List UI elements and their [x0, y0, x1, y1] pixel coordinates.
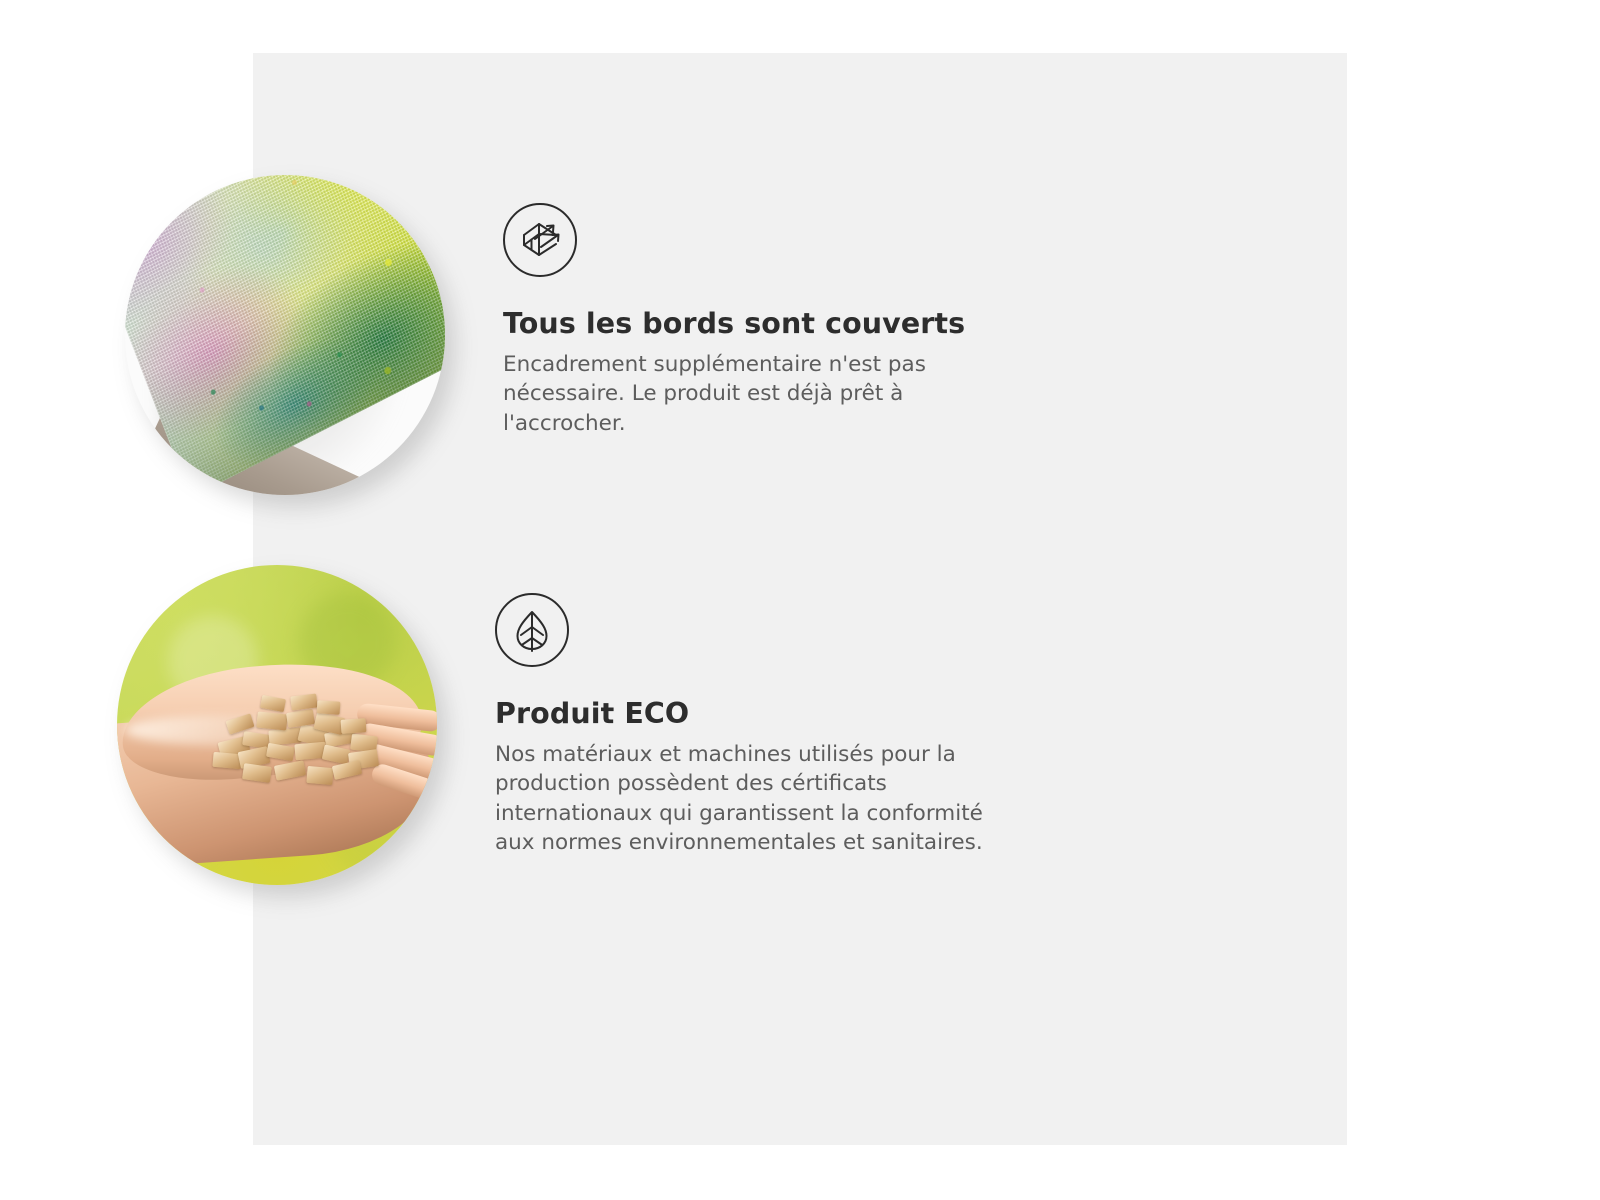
hands-wood-chips-photo — [117, 565, 437, 885]
wood-chip — [260, 695, 286, 712]
wood-chip — [317, 700, 341, 715]
wood-chip — [341, 718, 367, 734]
wood-chip — [266, 743, 295, 761]
wood-chip — [332, 760, 362, 780]
feature-description: Nos matériaux et machines utilisés pour … — [495, 740, 1020, 858]
wood-chip — [290, 693, 318, 710]
feature-text-column: Tous les bords sont couverts Encadrement… — [503, 175, 1043, 438]
wood-chip — [242, 763, 272, 783]
feature-title: Tous les bords sont couverts — [503, 308, 1043, 341]
feature-text-column: Produit ECO Nos matériaux et machines ut… — [495, 565, 1035, 858]
hands-wood-chips-photo-wrap — [117, 565, 437, 885]
wood-chip — [274, 760, 306, 780]
feature-block-edges: Tous les bords sont couverts Encadrement… — [125, 175, 1043, 495]
page-root: Tous les bords sont couverts Encadrement… — [0, 0, 1600, 1200]
feature-block-eco: Produit ECO Nos matériaux et machines ut… — [117, 565, 1035, 885]
feature-description: Encadrement supplémentaire n'est pas néc… — [503, 350, 973, 439]
wood-chips — [213, 677, 403, 787]
wood-chip — [256, 711, 288, 730]
canvas-corner-photo — [125, 175, 445, 495]
wood-chip — [306, 766, 333, 785]
feature-title: Produit ECO — [495, 698, 1035, 731]
canvas-wrapped-edges-icon — [503, 203, 577, 277]
canvas-corner-photo-wrap — [125, 175, 445, 495]
wood-chip — [322, 744, 351, 764]
leaf-icon — [495, 593, 569, 667]
